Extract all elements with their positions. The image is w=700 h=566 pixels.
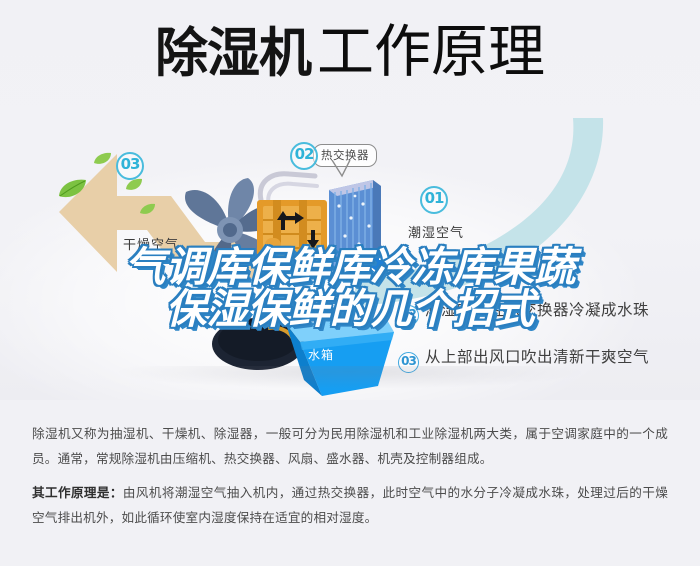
badge-01: 01 (420, 186, 448, 214)
overlay-title-line-2: 保湿保鲜的几个招式 (0, 288, 700, 330)
hero-shadow (0, 366, 700, 400)
badge-02: 02 (290, 142, 318, 170)
page-title: 除湿机工作原理 (0, 24, 700, 81)
illustration-hero: 除湿机工作原理 (0, 0, 700, 400)
overlay-title-line-1: 气调库保鲜库冷冻库果蔬 (0, 246, 700, 288)
body-paragraph-2: 其工作原理是：由风机将潮湿空气抽入机内，通过热交换器，此时空气中的水分子冷凝成水… (32, 481, 668, 530)
leaf-icon (94, 152, 112, 171)
body-paragraph-2-rest: 由风机将潮湿空气抽入机内，通过热交换器，此时空气中的水分子冷凝成水珠，处理过后的… (32, 485, 668, 525)
overlay-title: 气调库保鲜库冷冻库果蔬 保湿保鲜的几个招式 (0, 246, 700, 330)
badge-03: 03 (116, 152, 144, 180)
leaf-icon (58, 178, 88, 205)
water-tank-label: 水箱 (308, 346, 334, 363)
callout-pointer-icon (330, 160, 352, 182)
page-title-bold: 除湿机 (155, 23, 311, 84)
humid-air-label: 潮湿空气 (408, 222, 464, 241)
leaf-icon (126, 178, 143, 197)
body-paragraph-2-lead: 其工作原理是： (32, 485, 123, 500)
leaf-icon (140, 203, 156, 221)
page-title-light: 工作原理 (317, 19, 545, 85)
article-body: 除湿机又称为抽湿机、干燥机、除湿器，一般可分为民用除湿机和工业除湿机两大类，属于… (0, 400, 700, 566)
body-paragraph-1: 除湿机又称为抽湿机、干燥机、除湿器，一般可分为民用除湿机和工业除湿机两大类，属于… (32, 422, 668, 471)
caption-03-text: 从上部出风口吹出清新干爽空气 (425, 348, 649, 366)
